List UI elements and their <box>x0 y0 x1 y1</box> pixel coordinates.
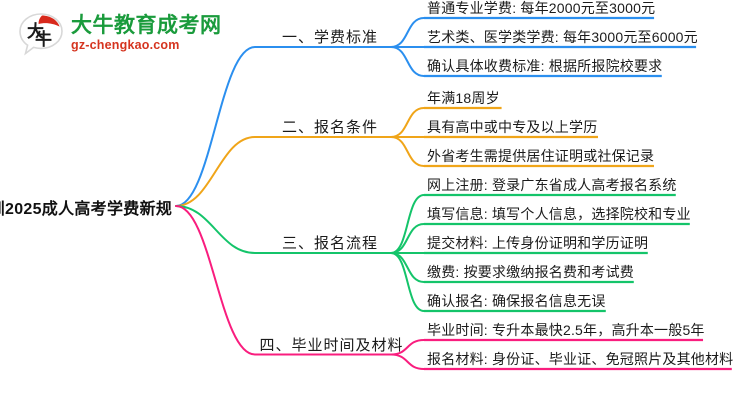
branch-node-label-2[interactable]: 二、报名条件 <box>282 116 378 137</box>
leaf-node-label-3-5[interactable]: 确认报名: 确保报名信息无误 <box>427 291 606 311</box>
leaf-node-label-1-3[interactable]: 确认具体收费标准: 根据所报院校要求 <box>427 56 662 76</box>
leaf-node-label-2-1[interactable]: 年满18周岁 <box>427 88 500 108</box>
leaf-node-label-2-3[interactable]: 外省考生需提供居住证明或社保记录 <box>427 146 654 166</box>
branch-node-label-3[interactable]: 三、报名流程 <box>282 232 378 253</box>
branch-node-label-1[interactable]: 一、学费标准 <box>282 26 378 47</box>
root-node-label[interactable]: 深圳2025成人高考学费新规 <box>0 195 172 219</box>
branch-node-label-4[interactable]: 四、毕业时间及材料 <box>259 334 403 355</box>
leaf-node-label-1-1[interactable]: 普通专业学费: 每年2000元至3000元 <box>427 0 655 18</box>
leaf-node-label-3-3[interactable]: 提交材料: 上传身份证明和学历证明 <box>427 233 648 253</box>
leaf-node-label-4-1[interactable]: 毕业时间: 专升本最快2.5年，高升本一般5年 <box>427 320 705 340</box>
leaf-node-label-3-2[interactable]: 填写信息: 填写个人信息，选择院校和专业 <box>427 204 691 224</box>
leaf-node-label-3-1[interactable]: 网上注册: 登录广东省成人高考报名系统 <box>427 175 677 195</box>
leaf-node-label-1-2[interactable]: 艺术类、医学类学费: 每年3000元至6000元 <box>427 27 698 47</box>
leaf-node-label-2-2[interactable]: 具有高中或中专及以上学历 <box>427 117 597 137</box>
mindmap-canvas: 大 牛 大牛教育成考网 gz-chengkao.com 深圳2025成人高考学费… <box>0 0 750 410</box>
leaf-node-label-4-2[interactable]: 报名材料: 身份证、毕业证、免冠照片及其他材料 <box>427 349 733 369</box>
leaf-node-label-3-4[interactable]: 缴费: 按要求缴纳报名费和考试费 <box>427 262 634 282</box>
